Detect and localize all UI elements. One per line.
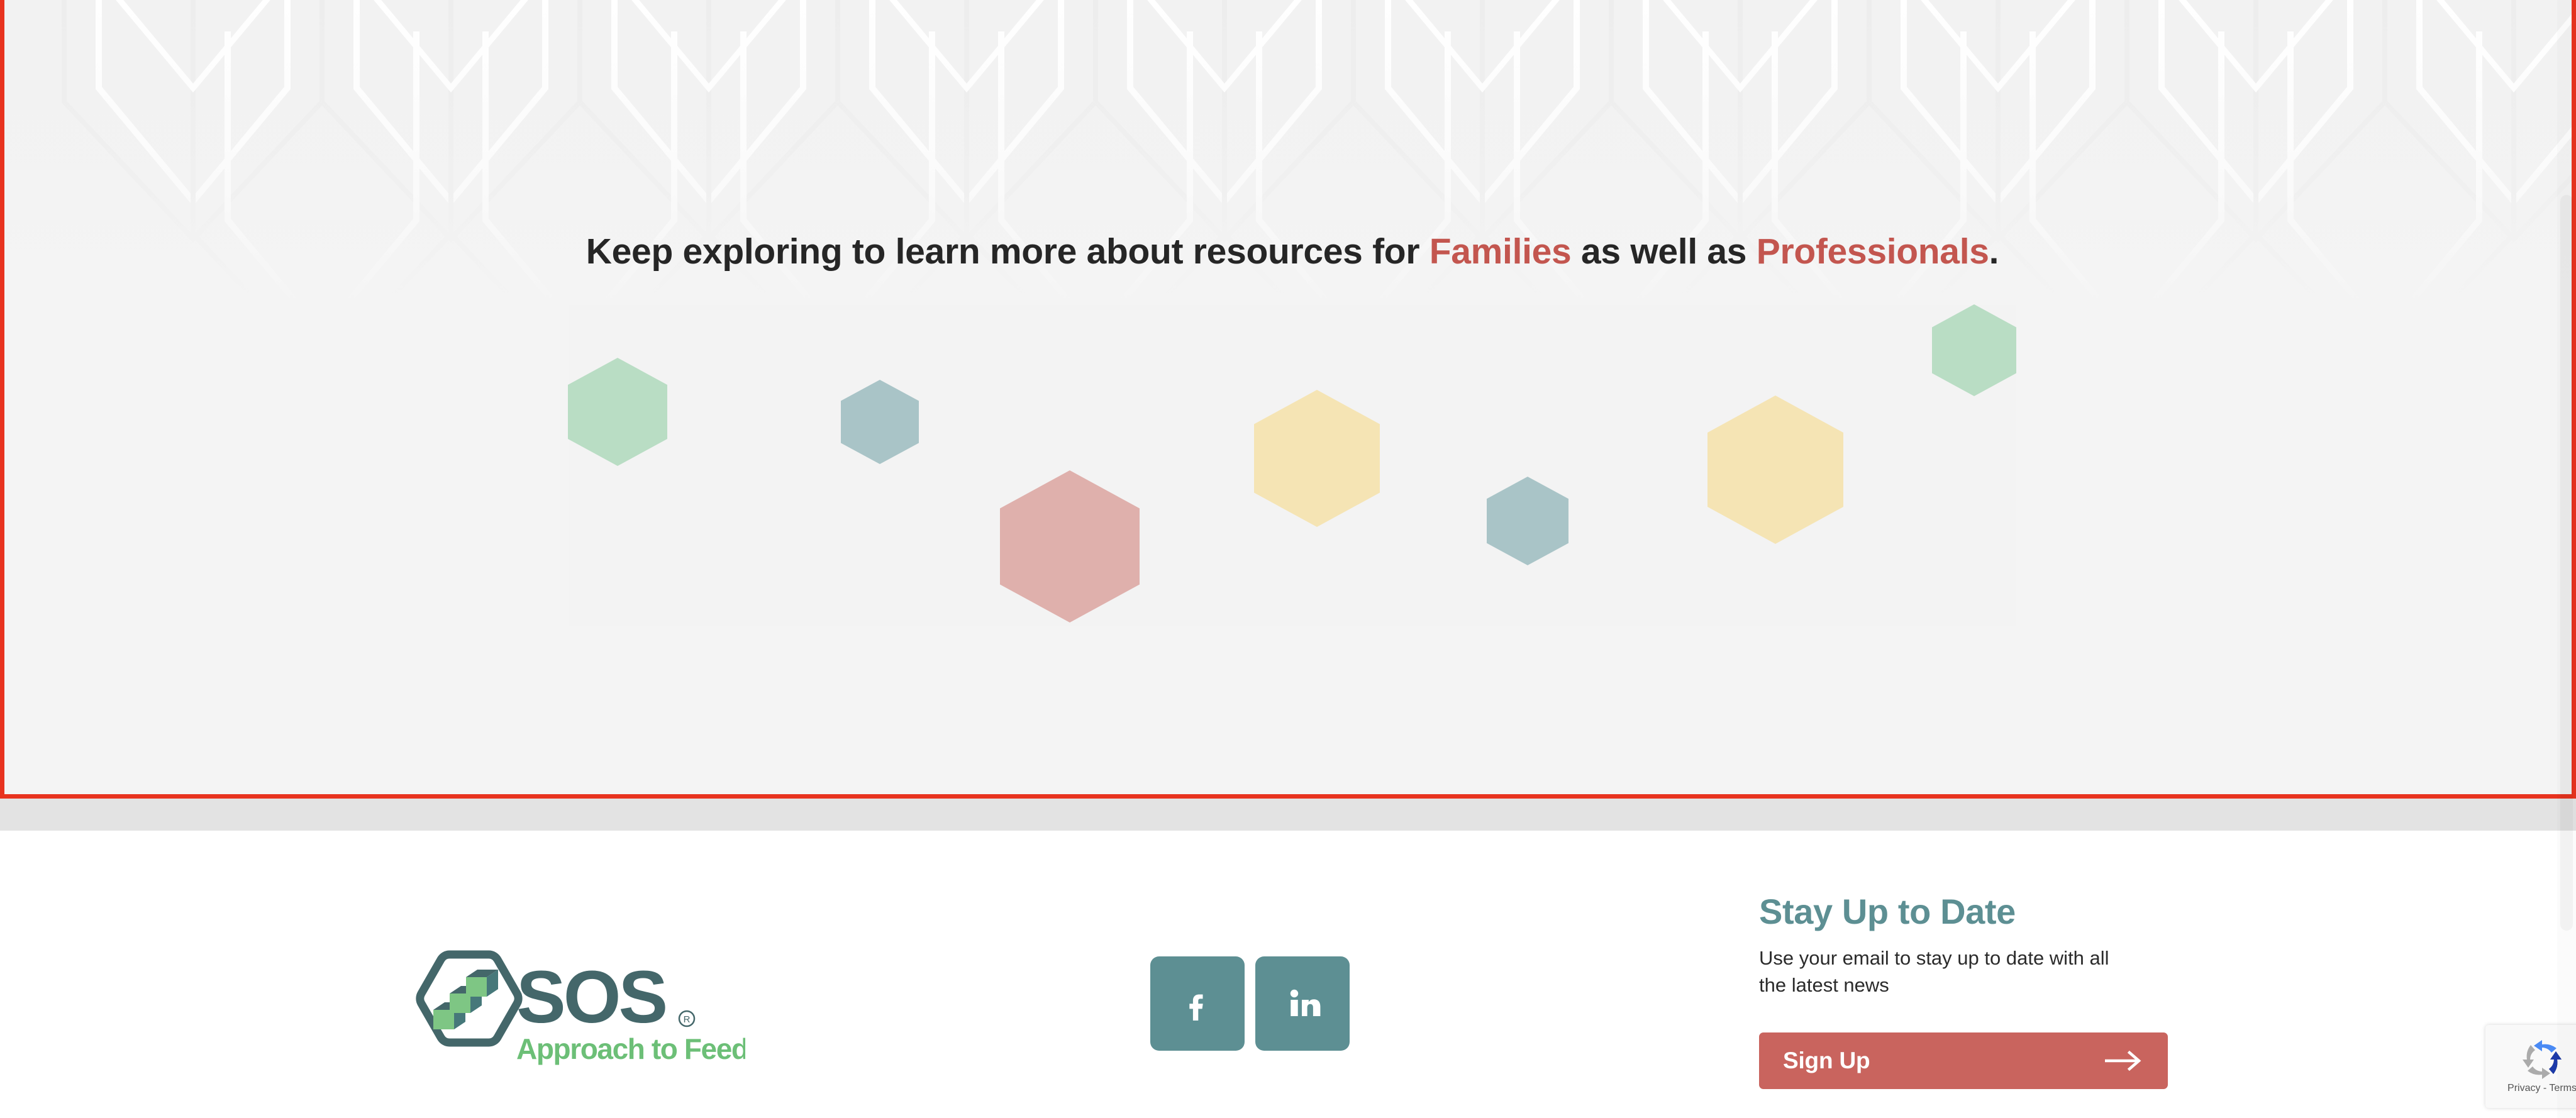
explore-text-suffix: . xyxy=(1989,231,1999,272)
sign-up-button[interactable]: Sign Up xyxy=(1759,1032,2168,1089)
page-scrollbar-track[interactable] xyxy=(2557,0,2576,1118)
svg-text:SOS: SOS xyxy=(516,956,665,1039)
sign-up-label: Sign Up xyxy=(1783,1048,1870,1074)
professionals-link[interactable]: Professionals xyxy=(1757,231,1989,272)
explore-text-middle: as well as xyxy=(1571,231,1756,272)
newsletter-block: Stay Up to Date Use your email to stay u… xyxy=(1759,894,2174,1089)
explore-section: Keep exploring to learn more about resou… xyxy=(0,0,2576,799)
site-footer: SOS R Approach to Feeding xyxy=(0,831,2576,1118)
footer-divider-band xyxy=(0,799,2576,831)
linkedin-icon xyxy=(1280,982,1324,1026)
explore-tagline: Keep exploring to learn more about resou… xyxy=(4,231,2576,272)
newsletter-description: Use your email to stay up to date with a… xyxy=(1759,945,2136,999)
linkedin-link[interactable] xyxy=(1255,956,1350,1051)
svg-text:Approach to Feeding: Approach to Feeding xyxy=(516,1032,745,1065)
page-scrollbar-thumb[interactable] xyxy=(2560,195,2573,931)
facebook-link[interactable] xyxy=(1150,956,1245,1051)
newsletter-title: Stay Up to Date xyxy=(1759,894,2174,931)
sos-logo[interactable]: SOS R Approach to Feeding xyxy=(406,947,745,1066)
arrow-right-icon xyxy=(2104,1050,2144,1071)
explore-text-prefix: Keep exploring to learn more about resou… xyxy=(586,231,1430,272)
facebook-icon xyxy=(1175,982,1219,1026)
svg-text:R: R xyxy=(684,1014,691,1025)
watermark-fade-overlay xyxy=(4,0,2576,352)
social-links xyxy=(1150,956,1350,1051)
page-root: Keep exploring to learn more about resou… xyxy=(0,0,2576,1118)
families-link[interactable]: Families xyxy=(1430,231,1572,272)
